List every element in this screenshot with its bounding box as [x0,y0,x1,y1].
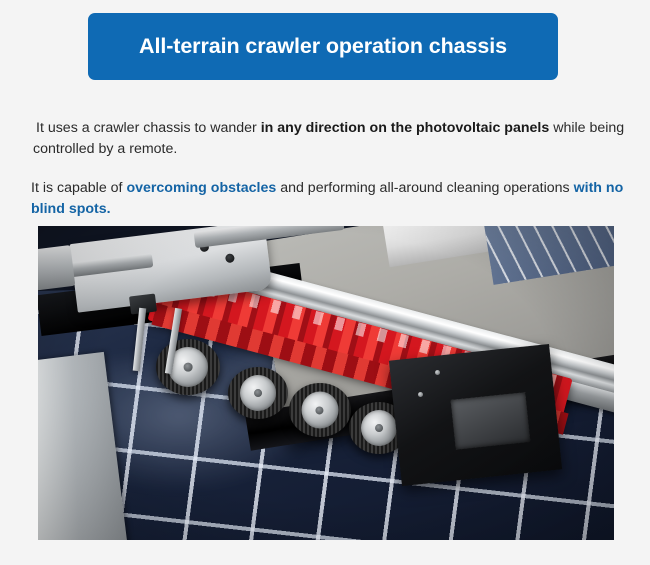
p2-emphasis-overcoming-obstacles: overcoming obstacles [126,180,276,196]
product-feature-card: All-terrain crawler operation chassis It… [0,0,650,565]
shaft-end-cap [38,245,75,292]
description-paragraph-2: It is capable of overcoming obstacles an… [31,178,631,220]
p2-segment-1: It is capable of [31,180,126,196]
description-paragraph-1: It uses a crawler chassis to wander in a… [33,118,633,160]
title-banner: All-terrain crawler operation chassis [88,13,558,80]
product-photo [38,226,614,540]
motor-access-panel [450,392,530,450]
photo-scene [38,226,614,540]
roller-hub [361,410,397,446]
p2-segment-3: and performing all-around cleaning opera… [276,180,573,196]
roller-hub [240,375,276,411]
bracket-hole-icon [224,254,234,264]
roller-hub [301,392,338,429]
roller-wheel [228,367,288,419]
roller-wheel [289,383,351,437]
page-title: All-terrain crawler operation chassis [139,35,507,59]
p1-emphasis-bold: in any direction on the photovoltaic pan… [261,120,550,136]
p1-segment-1: It uses a crawler chassis to wander [36,120,261,136]
